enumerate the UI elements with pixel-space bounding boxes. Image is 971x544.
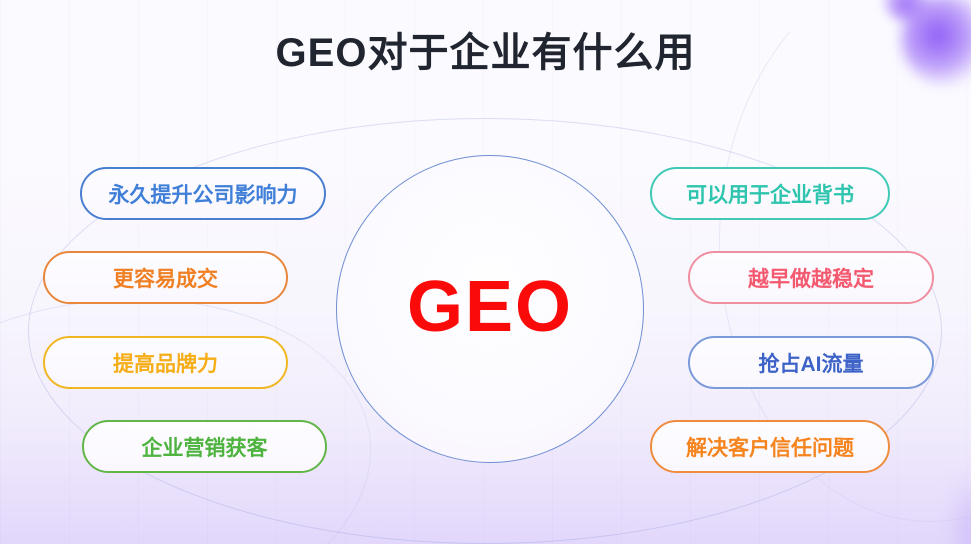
page-title: GEO对于企业有什么用 xyxy=(0,20,971,78)
slide-canvas: GEO对于企业有什么用 GEO 永久提升公司影响力更容易成交提高品牌力企业营销获… xyxy=(0,0,971,544)
benefit-pill-right-2[interactable]: 越早做越稳定 xyxy=(688,251,934,304)
benefit-pill-right-4[interactable]: 解决客户信任问题 xyxy=(650,420,890,473)
center-circle: GEO xyxy=(336,155,644,463)
purple-glow-blob-bottom-icon xyxy=(953,470,971,544)
benefit-pill-right-3[interactable]: 抢占AI流量 xyxy=(688,336,934,389)
benefit-pill-left-1[interactable]: 永久提升公司影响力 xyxy=(80,167,326,220)
center-label-geo: GEO xyxy=(407,271,573,343)
benefit-pill-left-2[interactable]: 更容易成交 xyxy=(43,251,288,304)
benefit-pill-left-3[interactable]: 提高品牌力 xyxy=(43,336,288,389)
benefit-pill-right-1[interactable]: 可以用于企业背书 xyxy=(650,167,890,220)
purple-glow-blob-small-icon xyxy=(883,0,929,22)
benefit-pill-left-4[interactable]: 企业营销获客 xyxy=(82,420,327,473)
decorative-arc-left xyxy=(0,274,388,544)
